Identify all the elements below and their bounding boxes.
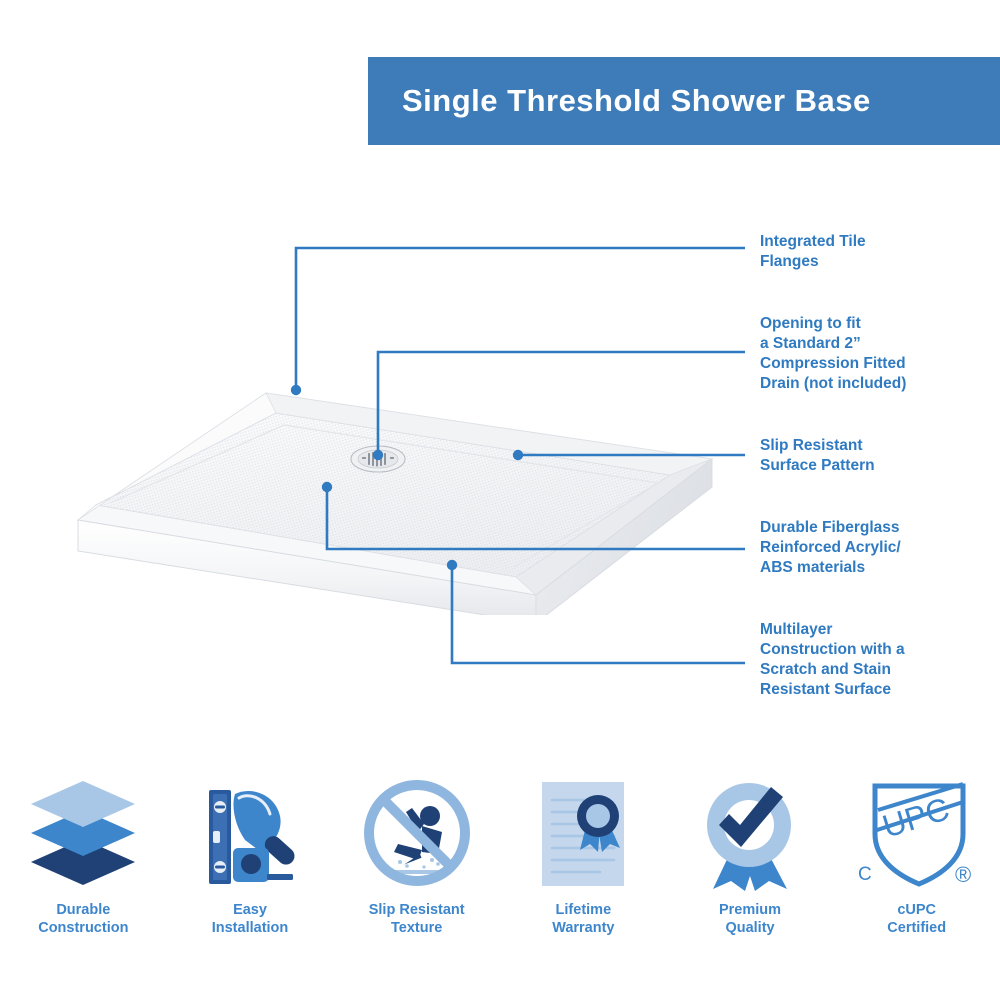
no-slip-icon — [358, 770, 476, 895]
layers-icon — [24, 770, 142, 895]
award-ribbon-icon — [691, 770, 809, 895]
feature-strip: Durable Construction — [0, 770, 1000, 970]
shield-prefix-text: C — [858, 864, 872, 885]
drain-cover — [351, 446, 405, 472]
feature-durable-construction: Durable Construction — [0, 770, 167, 970]
shield-registered-text: ® — [955, 862, 971, 887]
upc-shield-icon: UPC C ® — [851, 770, 983, 895]
feature-label: Slip Resistant Texture — [369, 901, 465, 937]
feature-cupc-certified: UPC C ® cUPC Certified — [833, 770, 1000, 970]
certificate-icon — [528, 770, 638, 895]
feature-label: Durable Construction — [38, 901, 128, 937]
callout-integrated-tile-flanges: Integrated Tile Flanges — [760, 232, 866, 272]
product-illustration — [18, 355, 738, 615]
feature-label: Lifetime Warranty — [552, 901, 614, 937]
feature-easy-installation: Easy Installation — [167, 770, 334, 970]
page-title: Single Threshold Shower Base — [368, 83, 871, 119]
callout-drain-opening: Opening to fit a Standard 2” Compression… — [760, 314, 906, 394]
feature-label: Premium Quality — [719, 901, 781, 937]
infographic-canvas: Single Threshold Shower Base — [0, 0, 1000, 1000]
callout-durable-materials: Durable Fiberglass Reinforced Acrylic/ A… — [760, 518, 901, 578]
title-banner: Single Threshold Shower Base — [368, 57, 1000, 145]
feature-label: Easy Installation — [212, 901, 289, 937]
callout-slip-resistant-surface-pattern: Slip Resistant Surface Pattern — [760, 436, 875, 476]
callout-multilayer-construction: Multilayer Construction with a Scratch a… — [760, 620, 905, 700]
tools-icon — [191, 770, 309, 895]
feature-slip-resistant-texture: Slip Resistant Texture — [333, 770, 500, 970]
feature-label: cUPC Certified — [887, 901, 946, 937]
feature-premium-quality: Premium Quality — [667, 770, 834, 970]
feature-lifetime-warranty: Lifetime Warranty — [500, 770, 667, 970]
shield-mark-text: UPC — [878, 790, 953, 844]
